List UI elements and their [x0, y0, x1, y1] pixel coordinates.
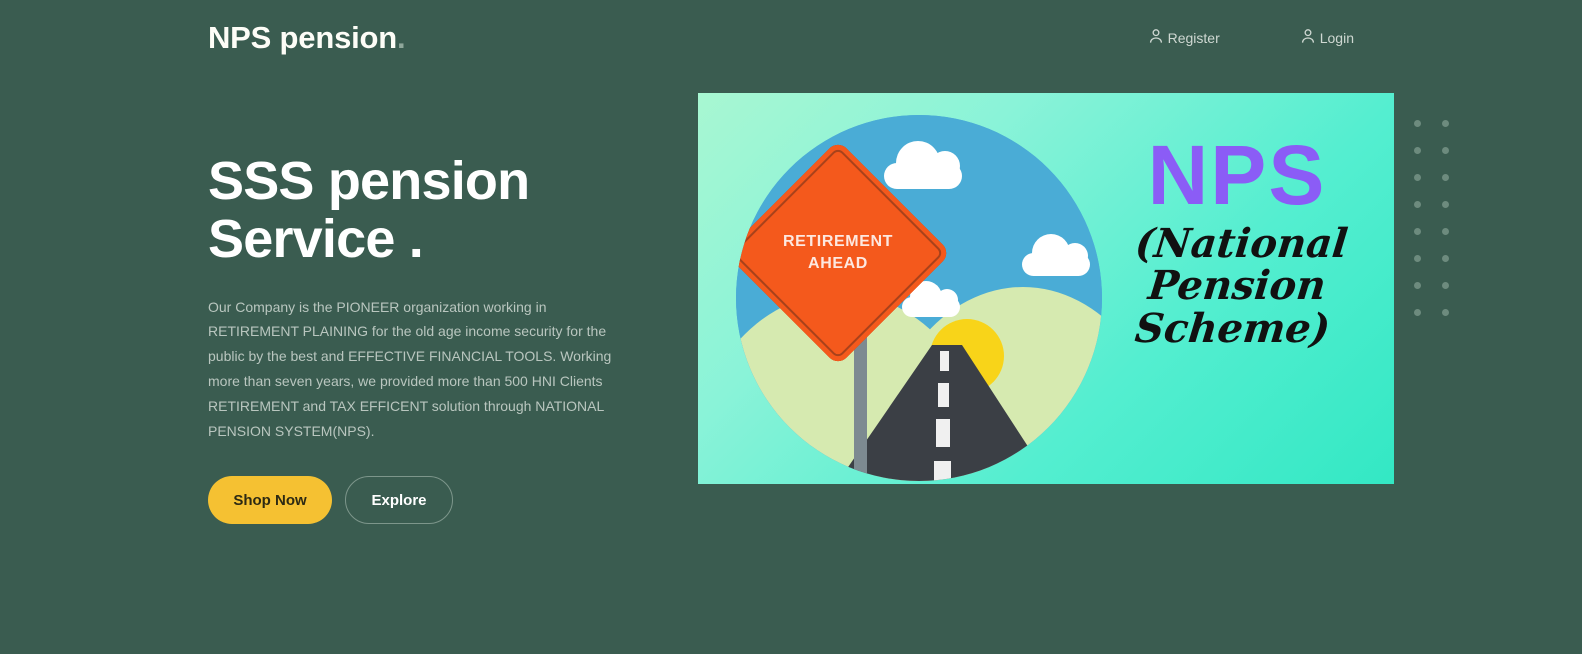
cloud-icon	[1022, 253, 1090, 276]
main-navigation: Register Login	[1146, 26, 1354, 49]
dot	[1414, 309, 1421, 316]
brand-logo-text: NPS pension	[208, 20, 397, 55]
dot	[1442, 255, 1449, 262]
nav-item-register[interactable]: Register	[1146, 26, 1220, 49]
nps-title: NPS	[1102, 133, 1372, 217]
dot	[1442, 201, 1449, 208]
person-icon	[1146, 26, 1166, 49]
hero-actions: Shop Now Explore	[208, 476, 628, 524]
road-graphic	[736, 345, 1102, 481]
dot	[1442, 147, 1449, 154]
page-title: SSS pension Service .	[208, 152, 628, 269]
dot	[1442, 174, 1449, 181]
dot	[1442, 228, 1449, 235]
dot	[1442, 309, 1449, 316]
dot	[1442, 282, 1449, 289]
road-sign-line-2: AHEAD	[808, 254, 868, 274]
dot	[1414, 174, 1421, 181]
road-sign-text: RETIREMENT AHEAD	[758, 173, 918, 333]
dot	[1414, 201, 1421, 208]
nav-item-register-label: Register	[1168, 30, 1220, 46]
nav-item-login-label: Login	[1320, 30, 1354, 46]
dot	[1414, 255, 1421, 262]
person-icon	[1298, 26, 1318, 49]
scene-circle: RETIREMENT AHEAD	[736, 115, 1102, 481]
brand-logo[interactable]: NPS pension.	[208, 20, 405, 56]
dot-grid-decoration	[1386, 120, 1470, 336]
shop-now-button[interactable]: Shop Now	[208, 476, 332, 524]
dot	[1414, 147, 1421, 154]
explore-button[interactable]: Explore	[345, 476, 453, 524]
dot	[1414, 228, 1421, 235]
dot	[1442, 120, 1449, 127]
brand-logo-dot: .	[397, 20, 405, 55]
site-header: NPS pension. Register Login	[0, 0, 1582, 78]
road-sign-line-1: RETIREMENT	[783, 232, 893, 252]
nps-subtitle: (National Pension Scheme)	[1095, 223, 1378, 350]
hero-illustration: RETIREMENT AHEAD NPS (National Pension S…	[698, 93, 1394, 484]
dot	[1414, 282, 1421, 289]
nav-item-login[interactable]: Login	[1298, 26, 1354, 49]
hero-text-column: SSS pension Service . Our Company is the…	[208, 152, 628, 524]
hero-description: Our Company is the PIONEER organization …	[208, 295, 612, 444]
dot	[1414, 120, 1421, 127]
nps-wordmark: NPS (National Pension Scheme)	[1102, 133, 1372, 350]
